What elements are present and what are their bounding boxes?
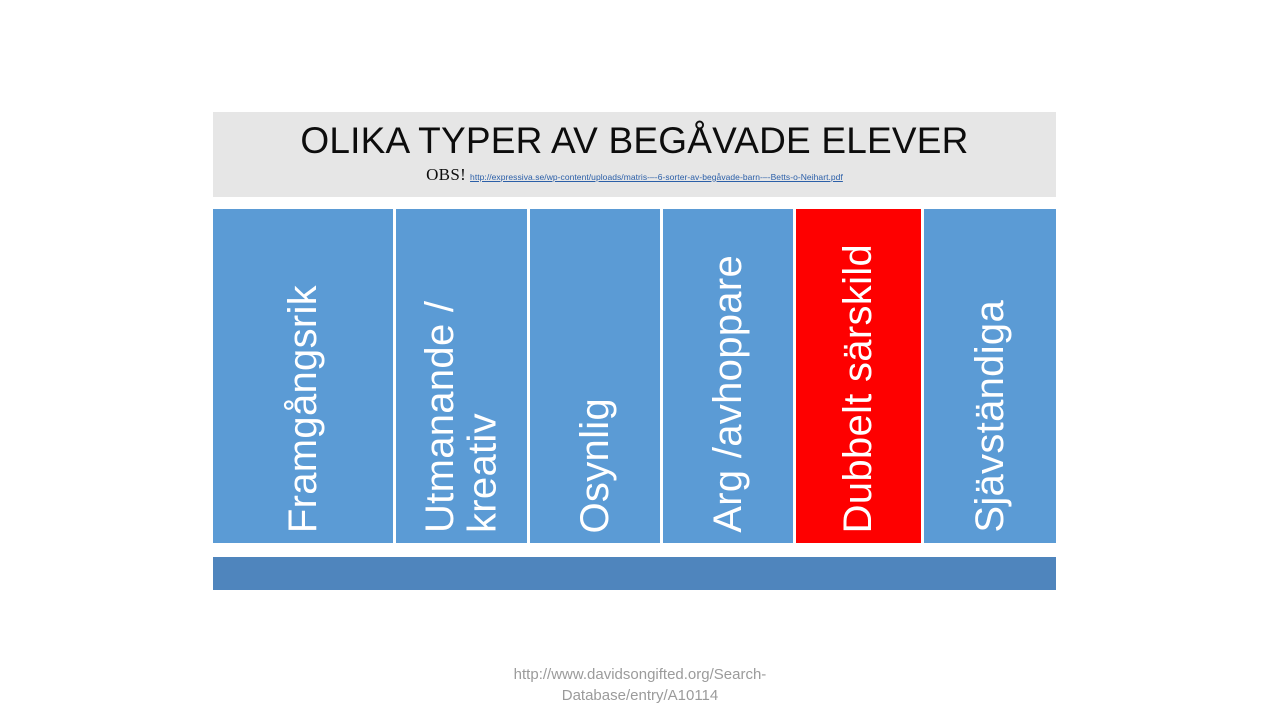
footer-note-line-1: http://www.davidsongifted.org/Search- (0, 664, 1280, 685)
category-column[interactable]: Framgångsrik (213, 209, 396, 543)
category-column-label: Framgångsrik (282, 279, 324, 543)
slide-canvas: OLIKA TYPER AV BEGÅVADE ELEVER OBS! http… (0, 0, 1280, 720)
obs-label: OBS! (426, 165, 466, 185)
category-column-label: Dubbelt särskild (837, 238, 879, 543)
category-column-label: Osynlig (574, 392, 616, 543)
subtitle-row: OBS! http://expressiva.se/wp-content/upl… (426, 165, 843, 185)
bottom-bar (213, 557, 1056, 590)
category-column[interactable]: Sjävständiga (924, 209, 1056, 543)
header-panel: OLIKA TYPER AV BEGÅVADE ELEVER OBS! http… (213, 112, 1056, 197)
footer-note-line-2: Database/entry/A10114 (0, 685, 1280, 706)
category-column-label: Arg /avhoppare (707, 249, 749, 543)
category-column-label: Utmanande / kreativ (419, 209, 504, 543)
source-link[interactable]: http://expressiva.se/wp-content/uploads/… (470, 172, 843, 182)
category-column[interactable]: Arg /avhoppare (663, 209, 796, 543)
footer-note: http://www.davidsongifted.org/Search- Da… (0, 664, 1280, 707)
category-column-label: Sjävständiga (969, 294, 1011, 543)
category-column[interactable]: Utmanande / kreativ (396, 209, 530, 543)
category-column[interactable]: Dubbelt särskild (796, 209, 924, 543)
category-column[interactable]: Osynlig (530, 209, 663, 543)
column-band: FramgångsrikUtmanande / kreativOsynligAr… (213, 209, 1056, 543)
page-title: OLIKA TYPER AV BEGÅVADE ELEVER (300, 118, 968, 164)
